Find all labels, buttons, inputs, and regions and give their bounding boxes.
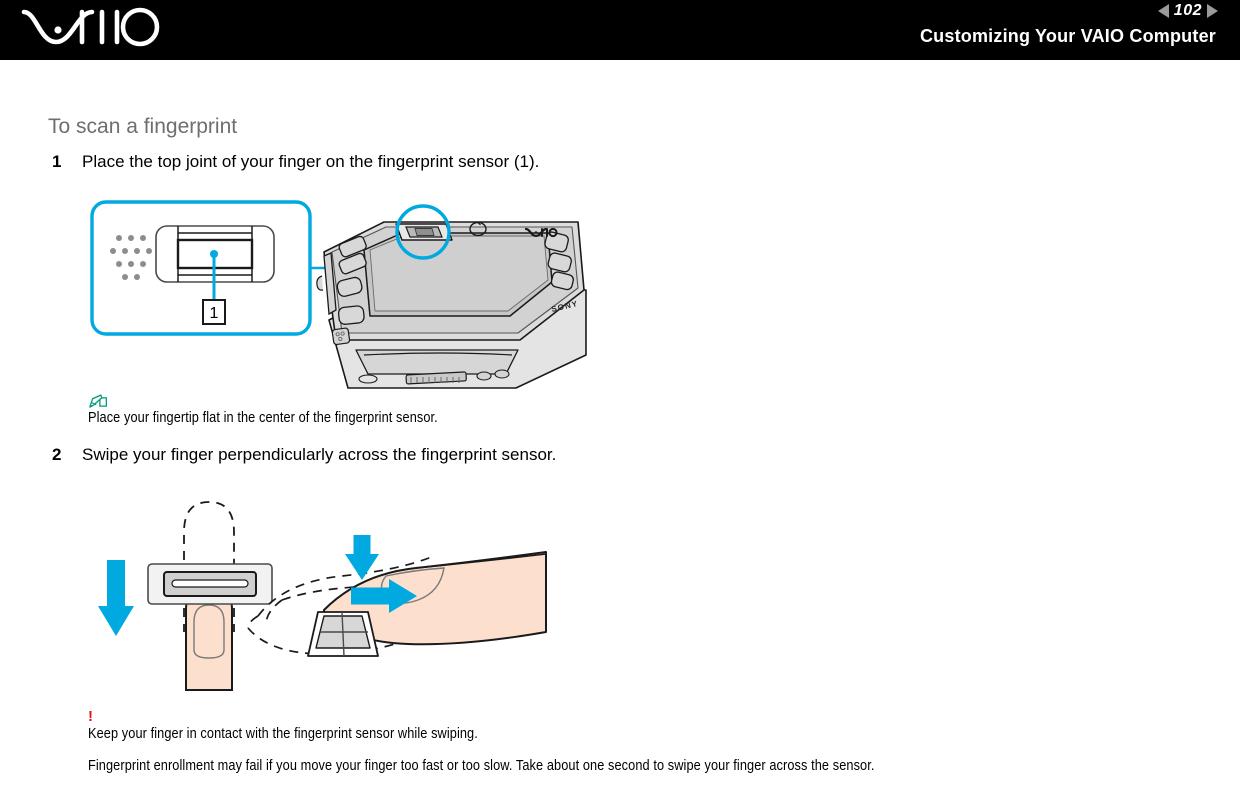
- step-text: Swipe your finger perpendicularly across…: [82, 445, 556, 465]
- callout-label-text: 1: [210, 305, 219, 322]
- note-block: Place your fingertip flat in the center …: [88, 393, 486, 426]
- warning-paragraph-2: Fingerprint enrollment may fail if you m…: [88, 758, 875, 774]
- warning-paragraph-1: Keep your finger in contact with the fin…: [88, 726, 875, 742]
- step-item-2: 2 Swipe your finger perpendicularly acro…: [52, 445, 556, 465]
- step-number: 1: [52, 152, 82, 172]
- step-text: Place the top joint of your finger on th…: [82, 152, 539, 172]
- prev-page-arrow-icon[interactable]: [1158, 4, 1169, 18]
- warning-block: ! Keep your finger in contact with the f…: [88, 710, 982, 774]
- next-page-arrow-icon[interactable]: [1207, 4, 1218, 18]
- sensor-body-side: [308, 612, 378, 656]
- exclamation-icon: !: [88, 710, 982, 726]
- page-content: To scan a fingerprint 1 Place the top jo…: [0, 60, 1240, 794]
- note-text: Place your fingertip flat in the center …: [88, 410, 438, 426]
- swipe-top-view: [98, 502, 272, 690]
- section-heading: To scan a fingerprint: [48, 115, 237, 139]
- finger-swipe-diagram: [86, 480, 626, 700]
- pager: 102: [1158, 1, 1218, 21]
- header-title: Customizing Your VAIO Computer: [920, 26, 1216, 47]
- swipe-side-view: [248, 535, 546, 656]
- step-item-1: 1 Place the top joint of your finger on …: [52, 152, 539, 172]
- step-number: 2: [52, 445, 82, 465]
- page-header: 102 Customizing Your VAIO Computer: [0, 0, 1240, 60]
- swipe-direction-arrow-down: [98, 560, 134, 636]
- swipe-direction-arrow-down-side: [345, 535, 379, 580]
- vaio-logo: [22, 8, 182, 52]
- pencil-note-icon: [88, 393, 110, 410]
- page-number: 102: [1174, 3, 1202, 19]
- device-illustration: SONY: [317, 222, 586, 388]
